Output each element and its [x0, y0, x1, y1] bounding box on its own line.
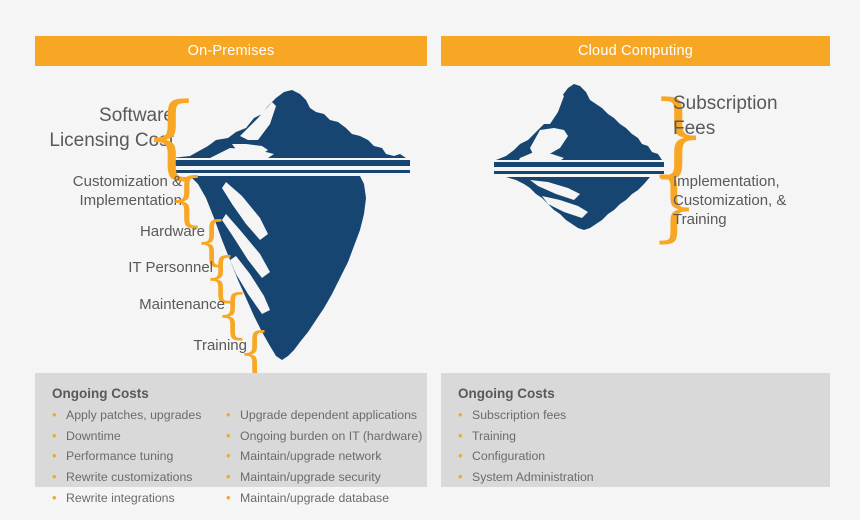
bullet-icon: • [458, 426, 472, 446]
bullet-icon: • [458, 467, 472, 487]
list-item: • System Administration [458, 467, 594, 488]
bullet-icon: • [52, 426, 66, 446]
list-item-label: Training [472, 426, 516, 447]
list-item: • Maintain/upgrade database [226, 488, 421, 509]
bullet-icon: • [52, 488, 66, 508]
bullet-icon: • [226, 405, 240, 425]
list-item-label: Performance tuning [66, 446, 173, 467]
list-item-label: Maintain/upgrade database [240, 488, 389, 509]
diagram-canvas: On-Premises Cloud Computing [0, 0, 860, 520]
label-training: Training [57, 336, 247, 355]
ongoing-costs-left-column-2: • Upgrade dependent applications • Ongoi… [226, 405, 421, 508]
list-item-label: Configuration [472, 446, 545, 467]
label-implementation-customization-training: Implementation, Customization, & Trainin… [673, 172, 848, 230]
label-maintenance: Maintenance [35, 295, 225, 314]
list-item: • Downtime [52, 426, 220, 447]
list-item-label: Maintain/upgrade security [240, 467, 381, 488]
waterline-right-bar [494, 162, 664, 167]
list-item-label: Upgrade dependent applications [240, 405, 417, 426]
list-item-label: Rewrite customizations [66, 467, 192, 488]
list-item: • Upgrade dependent applications [226, 405, 421, 426]
list-item: • Maintain/upgrade security [226, 467, 421, 488]
waterline-left-bar [172, 160, 410, 166]
iceberg-left-tip [172, 90, 410, 158]
iceberg-right-submerged [506, 177, 650, 230]
iceberg-right-tip [496, 84, 662, 160]
header-label-cloud-computing: Cloud Computing [578, 43, 693, 59]
list-item: • Subscription fees [458, 405, 594, 426]
ongoing-costs-title-right: Ongoing Costs [458, 386, 830, 401]
ongoing-costs-box-on-premises: Ongoing Costs • Apply patches, upgrades … [35, 373, 427, 487]
label-subscription-fees: Subscription Fees [673, 92, 848, 141]
bullet-icon: • [226, 488, 240, 508]
ongoing-costs-box-cloud-computing: Ongoing Costs • Subscription fees • Trai… [441, 373, 830, 487]
list-item: • Rewrite integrations [52, 488, 220, 509]
list-item: • Ongoing burden on IT (hardware) [226, 426, 421, 447]
label-customization-implementation: Customization & Implementation [0, 172, 182, 210]
ongoing-costs-title-left: Ongoing Costs [52, 386, 427, 401]
ongoing-costs-left-column-1: • Apply patches, upgrades • Downtime • P… [52, 405, 220, 508]
list-item: • Apply patches, upgrades [52, 405, 220, 426]
bullet-icon: • [52, 467, 66, 487]
list-item: • Maintain/upgrade network [226, 446, 421, 467]
bullet-icon: • [226, 426, 240, 446]
list-item-label: Apply patches, upgrades [66, 405, 201, 426]
list-item-label: Rewrite integrations [66, 488, 175, 509]
label-hardware: Hardware [15, 222, 205, 241]
header-label-on-premises: On-Premises [188, 43, 275, 59]
list-item-label: Subscription fees [472, 405, 566, 426]
list-item-label: System Administration [472, 467, 594, 488]
bullet-icon: • [52, 446, 66, 466]
list-item-label: Ongoing burden on IT (hardware) [240, 426, 422, 447]
list-item: • Training [458, 426, 594, 447]
ongoing-costs-right-column-1: • Subscription fees • Training • Configu… [458, 405, 594, 488]
list-item-label: Maintain/upgrade network [240, 446, 382, 467]
bullet-icon: • [52, 405, 66, 425]
waterline-right-line [494, 171, 664, 174]
list-item: • Rewrite customizations [52, 467, 220, 488]
bullet-icon: • [226, 446, 240, 466]
bullet-icon: • [226, 467, 240, 487]
label-it-personnel: IT Personnel [23, 258, 213, 277]
list-item: • Configuration [458, 446, 594, 467]
bullet-icon: • [458, 405, 472, 425]
list-item-label: Downtime [66, 426, 121, 447]
header-bar-cloud-computing: Cloud Computing [441, 36, 830, 66]
waterline-left-line [172, 170, 410, 173]
header-bar-on-premises: On-Premises [35, 36, 427, 66]
bullet-icon: • [458, 446, 472, 466]
brace-training: { [238, 327, 271, 379]
list-item: • Performance tuning [52, 446, 220, 467]
